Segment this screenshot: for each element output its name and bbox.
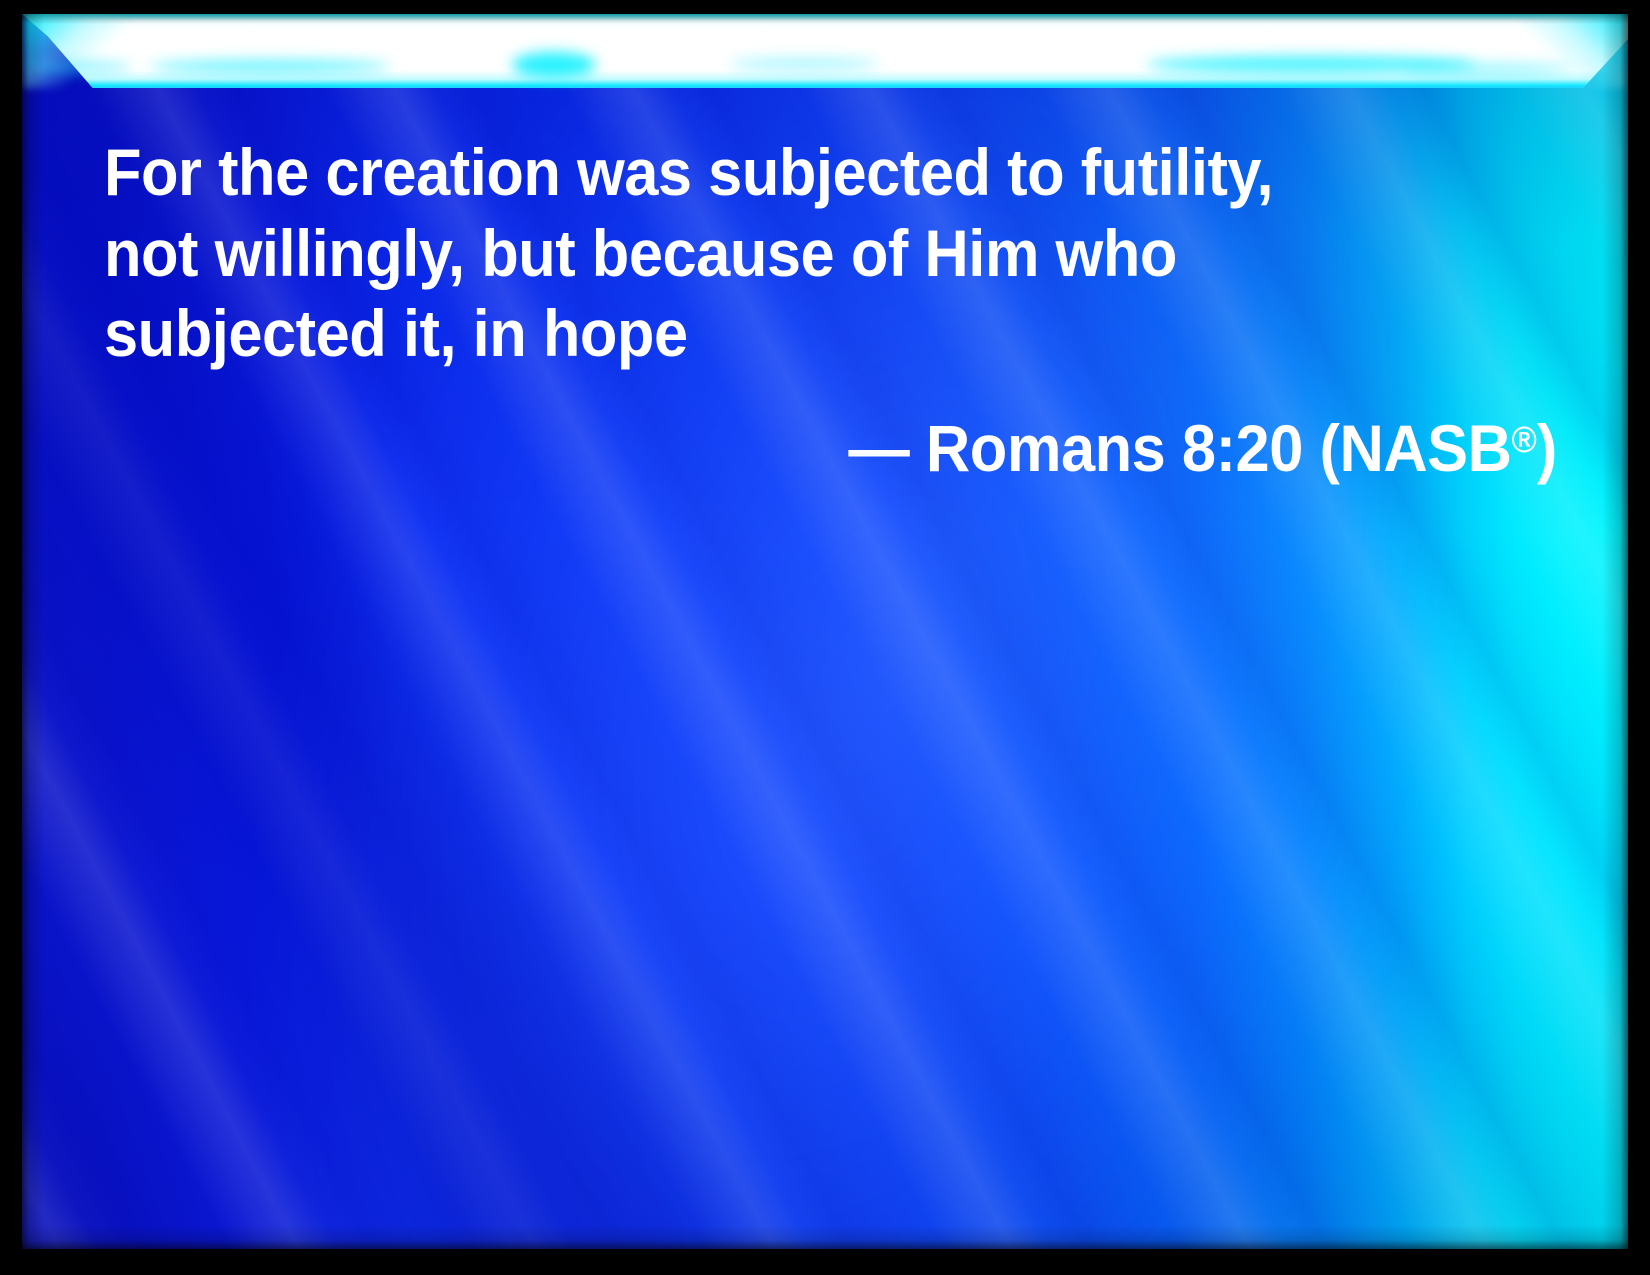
verse-line-3: subjected it, in hope	[104, 293, 1466, 374]
verse-text-block: For the creation was subjected to futili…	[104, 132, 1568, 488]
slide-artwork: For the creation was subjected to futili…	[22, 14, 1628, 1249]
em-dash: —	[848, 411, 909, 485]
verse-line-2: not willingly, but because of Him who	[104, 213, 1466, 294]
top-band-right-flare	[1508, 14, 1628, 88]
verse-line-1: For the creation was subjected to futili…	[104, 132, 1466, 213]
top-band-cyan-edge	[22, 14, 1628, 88]
translation-close-paren: )	[1537, 411, 1557, 485]
registered-trademark-icon: ®	[1512, 418, 1537, 459]
verse-reference: Romans 8:20	[926, 411, 1303, 485]
translation-open-paren: (NASB	[1319, 411, 1511, 485]
verse-attribution: — Romans 8:20 (NASB®)	[206, 408, 1568, 489]
top-band-left-flare	[22, 14, 142, 88]
verse-slide: For the creation was subjected to futili…	[0, 0, 1650, 1275]
